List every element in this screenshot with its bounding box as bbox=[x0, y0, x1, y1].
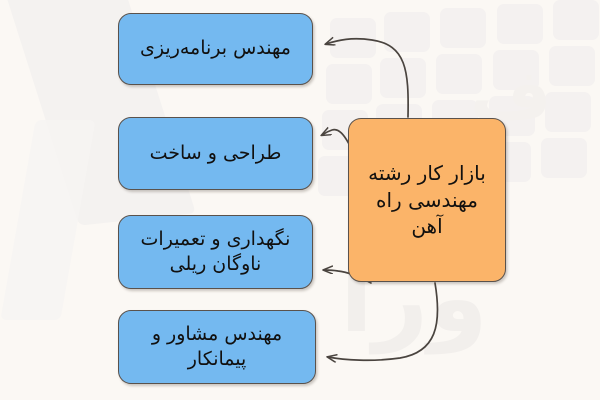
background-tile bbox=[541, 138, 587, 178]
background-tile bbox=[549, 46, 595, 86]
background-tile bbox=[380, 58, 426, 98]
background-tile bbox=[545, 92, 591, 132]
background-tile bbox=[436, 54, 482, 94]
background-tile bbox=[326, 64, 372, 104]
background-tile bbox=[497, 4, 543, 44]
background-tile bbox=[553, 0, 599, 40]
connector-hub-to-consultant bbox=[328, 283, 438, 360]
node-hub-railway-engineering-job-market[interactable]: بازار کار رشته مهندسی راه آهن bbox=[348, 118, 506, 282]
diagram-canvas: ورا ف مهندس برنامه‌ریزی طراحی و ساخت نگه… bbox=[0, 0, 600, 400]
connector-hub-to-planning bbox=[326, 39, 408, 117]
background-wedge-left-2 bbox=[0, 120, 95, 320]
background-tile bbox=[330, 18, 376, 58]
node-design-and-construction[interactable]: طراحی و ساخت bbox=[118, 117, 313, 190]
node-planning-engineer[interactable]: مهندس برنامه‌ریزی bbox=[118, 13, 313, 85]
node-consulting-and-contracting-engineer[interactable]: مهندس مشاور و پیمانکار bbox=[118, 310, 316, 384]
background-tile bbox=[493, 50, 539, 90]
background-tile bbox=[384, 12, 430, 52]
background-tile bbox=[440, 8, 486, 48]
node-rail-fleet-maintenance[interactable]: نگهداری و تعمیرات ناوگان ریلی bbox=[118, 215, 313, 289]
